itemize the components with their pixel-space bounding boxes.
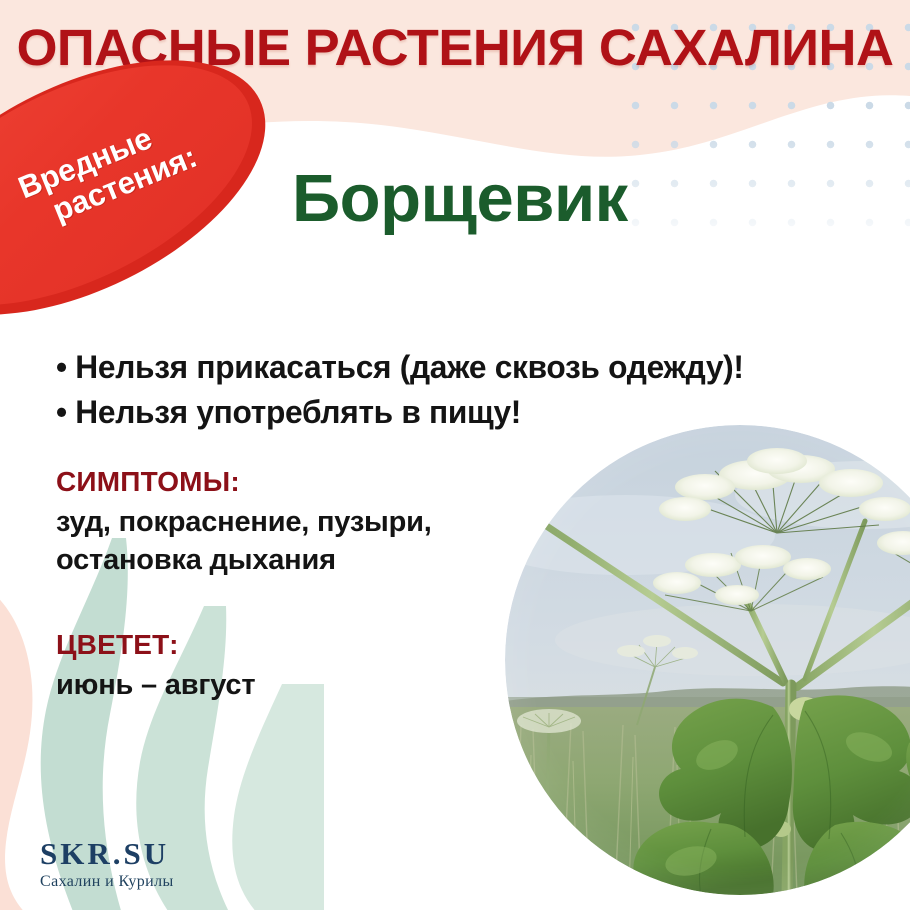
bloom-body: июнь – август [56,667,526,705]
bloom-section: ЦВЕТЕТ: июнь – август [56,628,526,705]
site-logo[interactable]: SKR.SU Сахалин и Курилы [40,838,174,890]
bloom-title: ЦВЕТЕТ: [56,628,526,662]
warning-list: • Нельзя прикасаться (даже сквозь одежду… [56,345,846,435]
hogweed-photo [505,425,910,895]
bloom-line: июнь – август [56,667,526,705]
warning-item: • Нельзя прикасаться (даже сквозь одежду… [56,345,838,390]
symptoms-line: остановка дыхания [56,542,526,580]
hogweed-photo-illustration [505,425,910,895]
plant-name-heading: Борщевик [292,165,628,232]
logo-tagline: Сахалин и Курилы [40,874,174,890]
symptoms-body: зуд, покраснение, пузыри, остановка дыха… [56,504,526,579]
logo-wordmark: SKR.SU [40,838,174,869]
symptoms-line: зуд, покраснение, пузыри, [56,504,526,542]
poster-canvas: ОПАСНЫЕ РАСТЕНИЯ САХАЛИНА Вредные растен… [0,0,910,910]
symptoms-title: СИМПТОМЫ: [56,465,526,499]
symptoms-section: СИМПТОМЫ: зуд, покраснение, пузыри, оста… [56,465,526,580]
